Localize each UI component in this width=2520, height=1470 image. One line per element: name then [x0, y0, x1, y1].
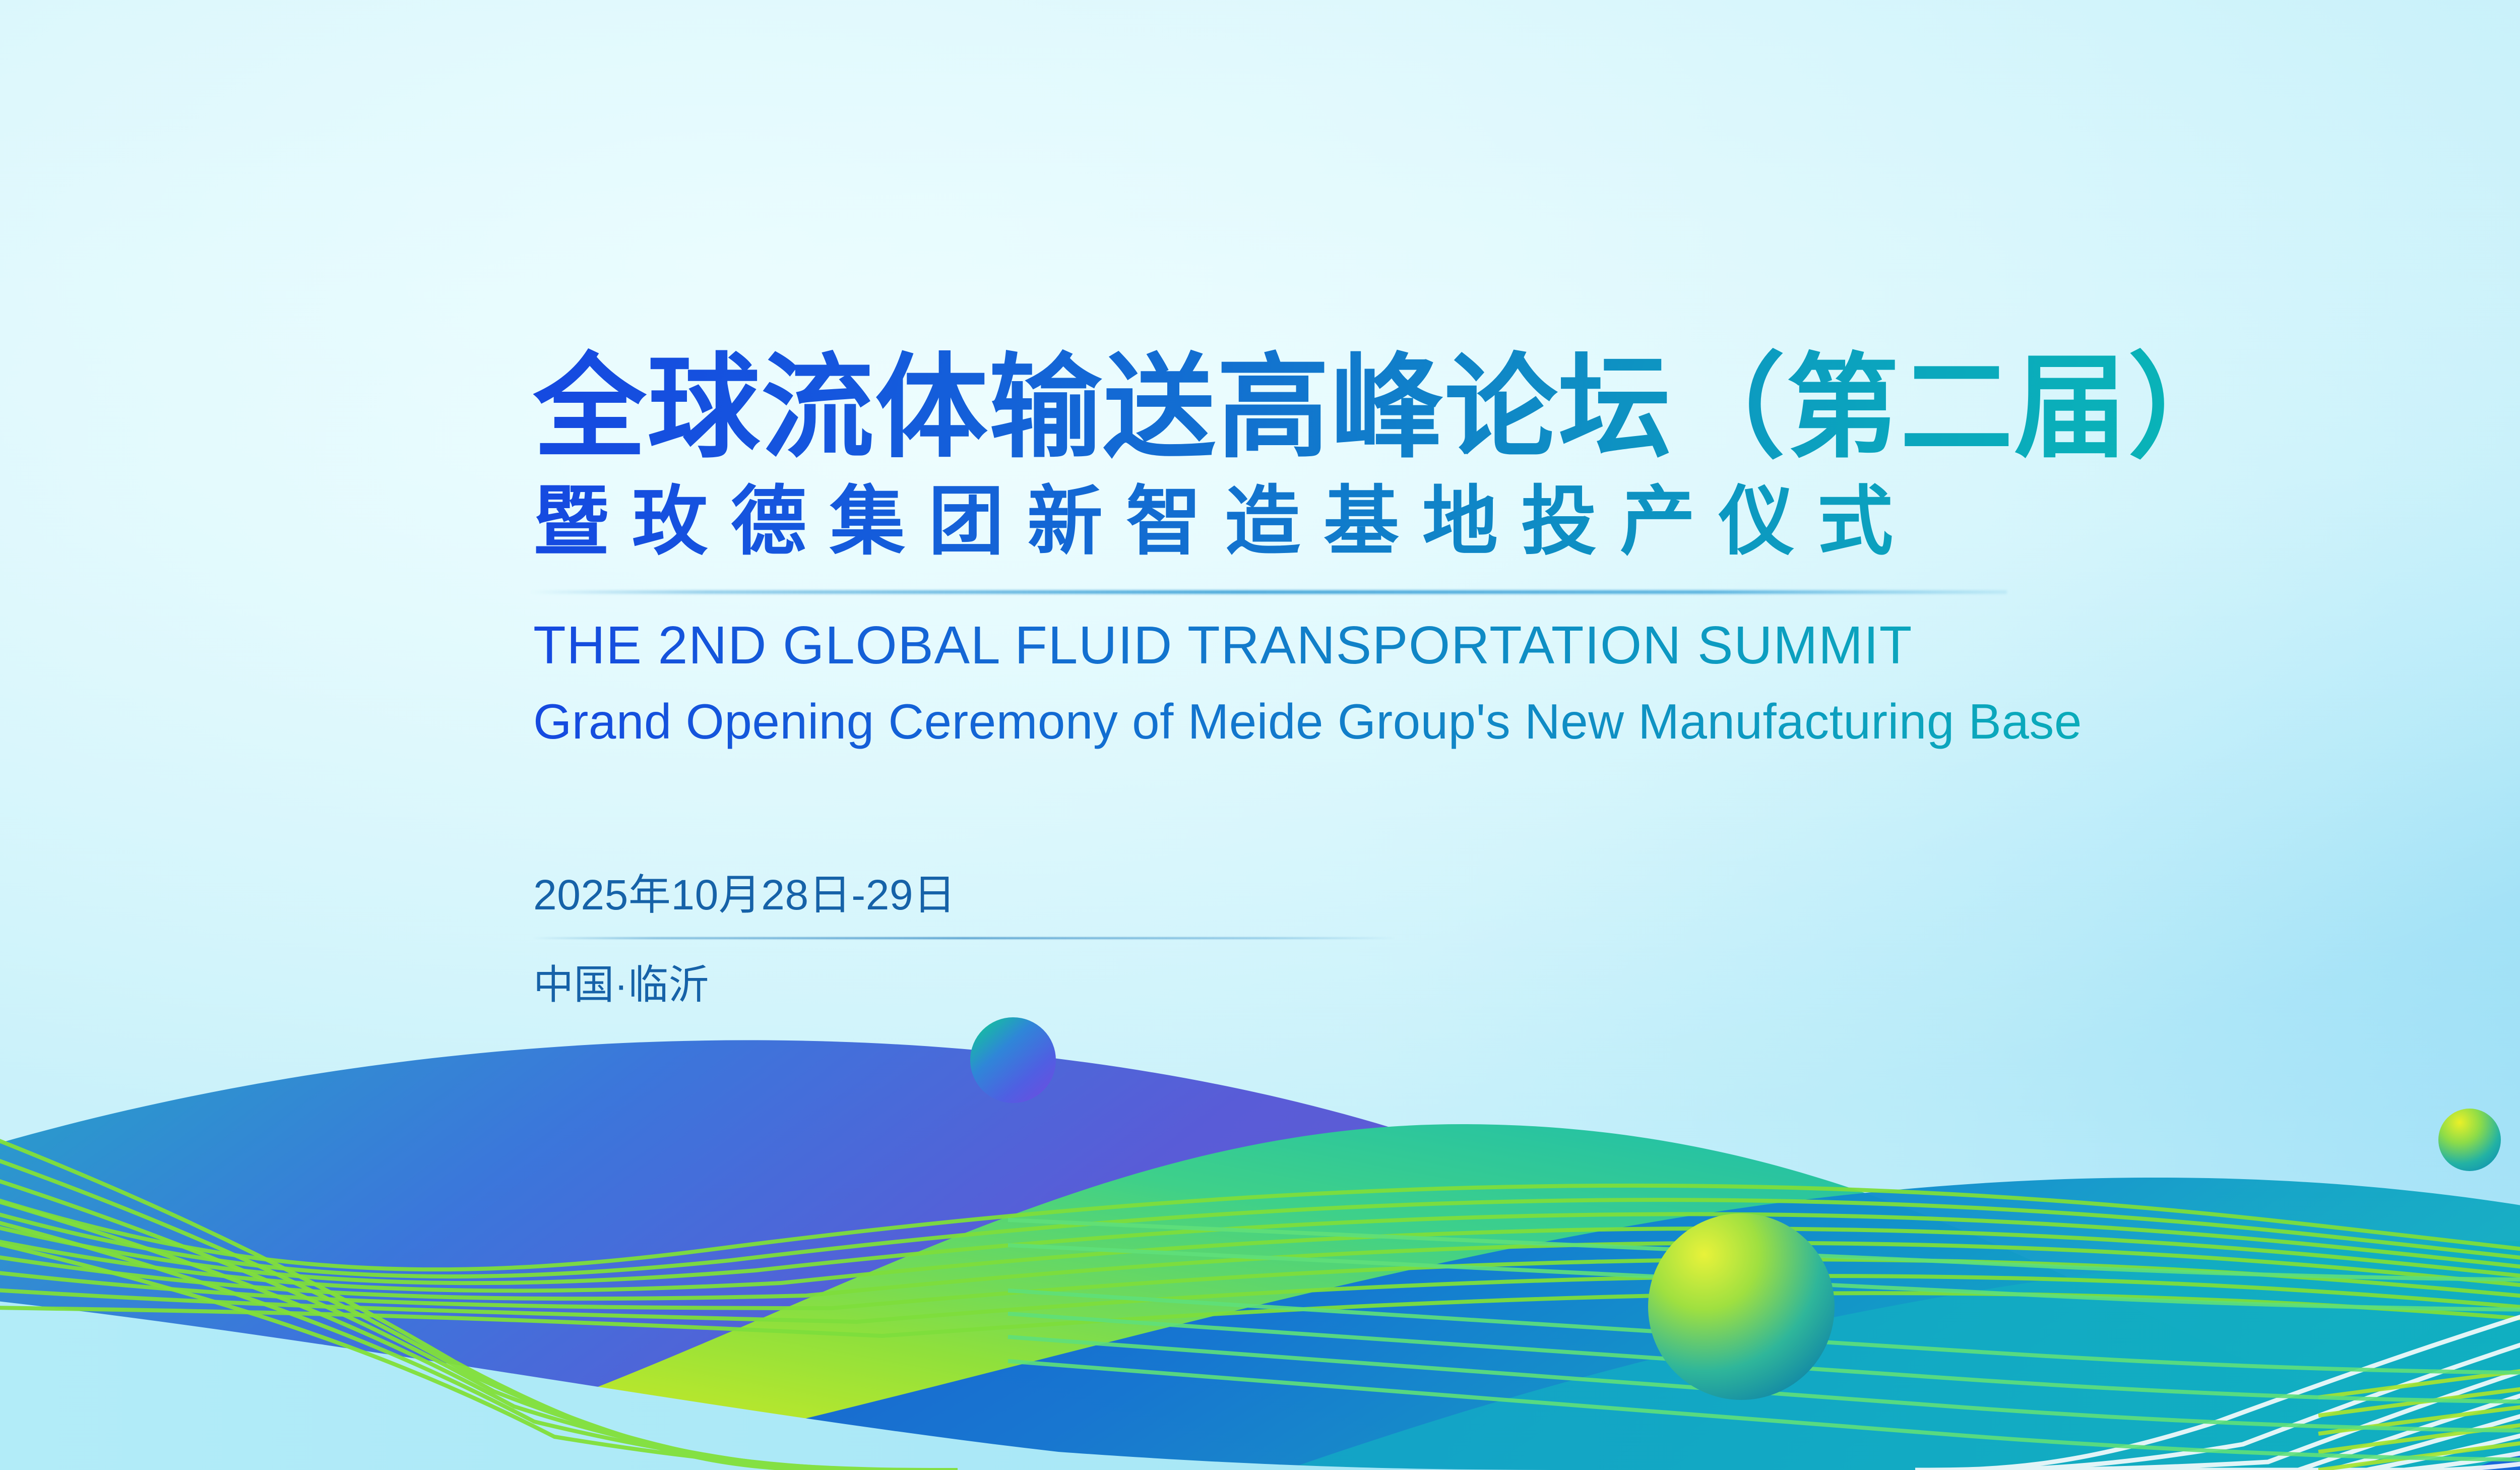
divider-lower: [533, 937, 1395, 939]
headline-chinese: 全球流体输送高峰论坛（第二届）: [533, 348, 2520, 467]
banner-text-block: 全球流体输送高峰论坛（第二届） 暨玫德集团新智造基地投产仪式 THE 2ND G…: [533, 348, 2520, 1011]
conference-banner: 全球流体输送高峰论坛（第二届） 暨玫德集团新智造基地投产仪式 THE 2ND G…: [0, 0, 2520, 1470]
purple-teal-sphere: [970, 1017, 1056, 1103]
large-gradient-sphere: [1648, 1213, 1835, 1400]
green-sphere: [2438, 1109, 2501, 1171]
divider-upper: [530, 590, 2007, 594]
event-date: 2025年10月28日-29日: [533, 861, 2520, 922]
headline-english: THE 2ND GLOBAL FLUID TRANSPORTATION SUMM…: [533, 615, 2520, 676]
event-meta: 2025年10月28日-29日 中国·临沂: [533, 861, 2520, 1011]
subheadline-english: Grand Opening Ceremony of Meide Group's …: [533, 693, 2520, 750]
event-location: 中国·临沂: [533, 952, 2520, 1011]
subheadline-chinese: 暨玫德集团新智造基地投产仪式: [533, 476, 2520, 567]
